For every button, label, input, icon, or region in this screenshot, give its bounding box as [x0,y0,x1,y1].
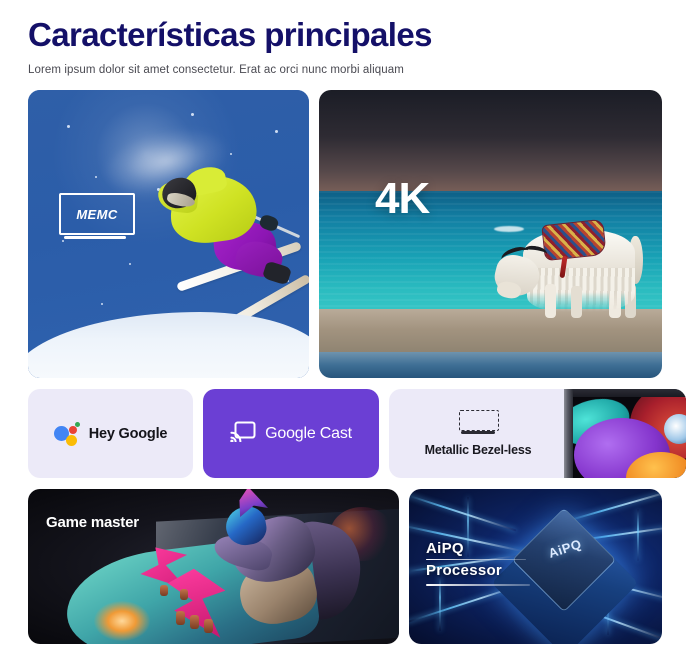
snowflake [191,113,194,116]
hey-google-label: Hey Google [89,426,168,442]
google-cast-label: Google Cast [265,425,352,443]
google-assistant-icon [54,422,80,446]
aipq-text-block: AiPQ Processor [426,540,530,586]
hoverbike-rivet [190,615,199,629]
dashed-tv-stand [461,431,495,434]
assistant-dot-green [75,422,80,427]
feature-card-google-cast[interactable]: Google Cast [203,389,379,478]
bezel-less-content: Metallic Bezel-less [389,389,567,478]
feature-row-bottom: Game master [28,489,662,644]
dashed-tv-frame [459,410,499,431]
circuit-trace [409,493,516,532]
hoverbike-rivet [180,589,188,600]
feature-card-aipq-processor[interactable]: AiPQ AiPQ Processor [409,489,662,644]
feature-card-4k[interactable]: 4K [319,90,662,378]
cast-icon [230,420,256,447]
monitor-outline-icon: MEMC [59,193,135,235]
foreground-water [319,352,662,378]
feature-page: Características principales Lorem ipsum … [0,0,688,664]
circuit-trace [637,509,639,561]
hoverbike-rivet [176,611,185,625]
aipq-label-line2: Processor [426,562,530,579]
game-master-label: Game master [46,514,139,531]
feature-grid: MEMC [28,90,662,644]
hoverbike-rivet [204,619,213,633]
snowflake [129,263,131,265]
dashed-tv-icon [459,410,497,436]
monitor-stand [64,236,126,239]
skier-boot [262,260,292,285]
feature-card-game-master[interactable]: Game master [28,489,399,644]
snowflake [62,240,64,242]
aipq-divider [426,584,530,585]
wallpaper-shape [664,414,686,444]
sky-background [319,90,662,194]
television-image [564,389,686,478]
tv-bezel-top [564,389,686,397]
tv-bezel-edge [564,389,573,478]
hoverbike-headlight [94,601,150,641]
tv-screen [572,396,686,478]
resolution-label: 4K [375,174,429,224]
snowflake [67,125,70,128]
yak-leg [545,284,556,318]
yak-leg [571,286,582,318]
bezel-less-label: Metallic Bezel-less [425,443,532,457]
assistant-dot-red [69,426,77,434]
feature-row-top: MEMC [28,90,662,378]
feature-card-memc[interactable]: MEMC [28,90,309,378]
memc-badge-label: MEMC [76,207,117,222]
yak-illustration [487,220,655,330]
aipq-divider [426,559,526,560]
yak-saddle [541,219,606,261]
page-header: Características principales Lorem ipsum … [0,0,688,76]
aipq-label-line1: AiPQ [426,540,530,557]
assistant-dot-yellow [66,435,77,446]
page-subtitle: Lorem ipsum dolor sit amet consectetur. … [28,64,688,76]
feature-card-bezel-less[interactable]: Metallic Bezel-less [389,389,686,478]
hoverbike-rivet [160,585,168,596]
feature-card-hey-google[interactable]: Hey Google [28,389,193,478]
feature-row-middle: Hey Google Google Cast [28,389,662,478]
page-title: Características principales [28,16,688,54]
